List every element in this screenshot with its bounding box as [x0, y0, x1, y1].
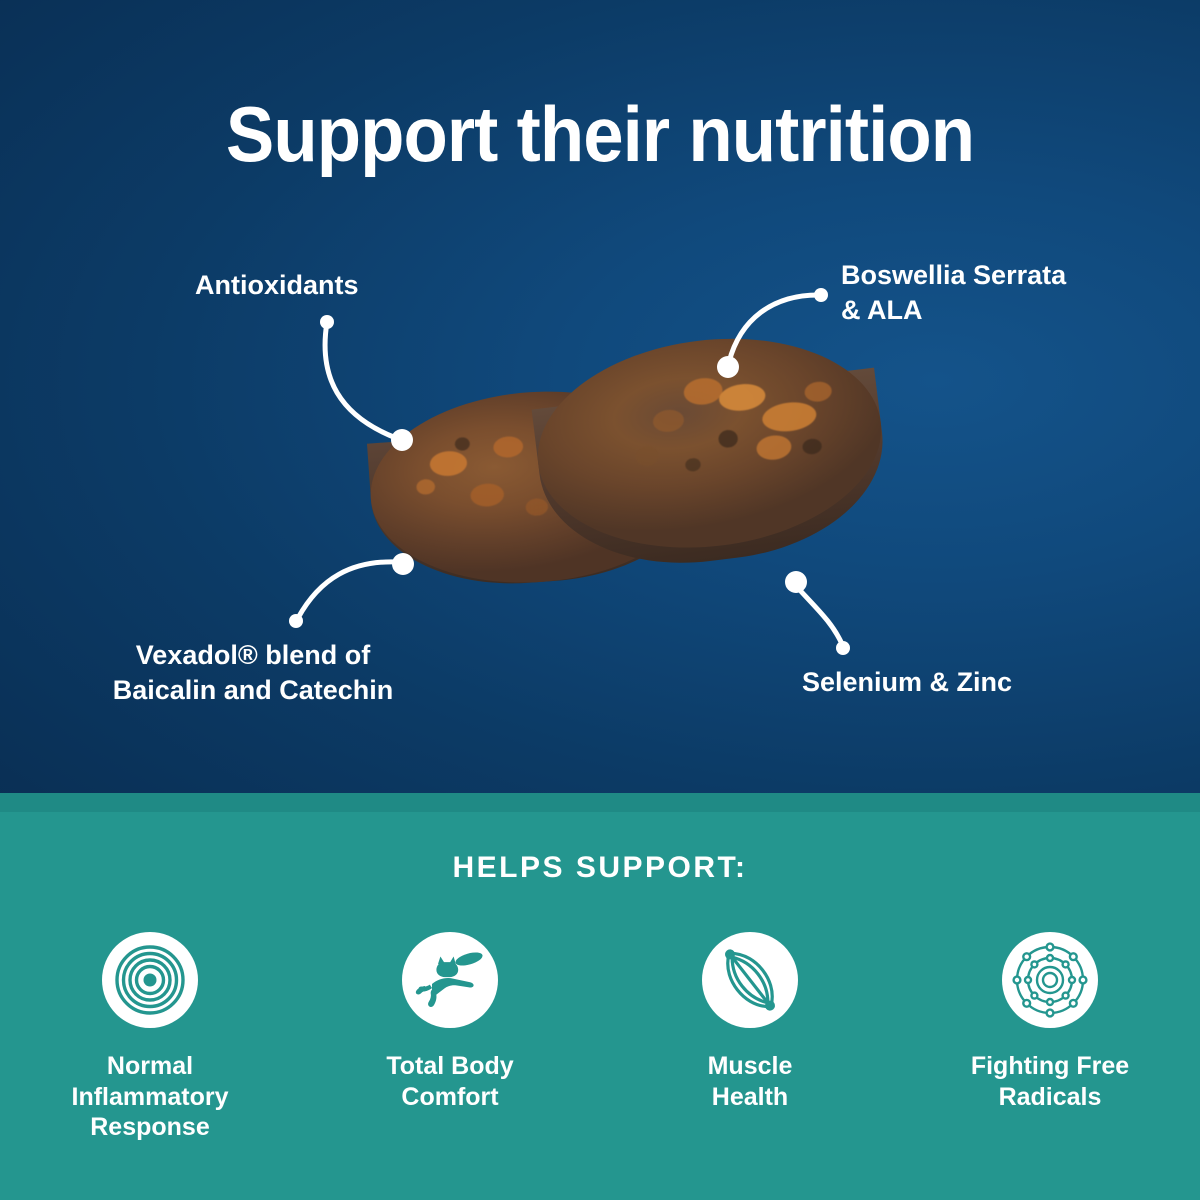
concentric-rings-icon: [102, 932, 198, 1028]
benefit-label: Fighting Free Radicals: [971, 1051, 1129, 1112]
label-dot-boswellia: [814, 288, 828, 302]
label-dot-selenium: [836, 641, 850, 655]
muscle-fiber-icon: [702, 932, 798, 1028]
benefit-label: Muscle Health: [708, 1051, 793, 1112]
benefit-label: Total Body Comfort: [386, 1051, 513, 1112]
leader-line-vexadol: [298, 562, 398, 618]
leader-line-boswellia: [729, 295, 821, 362]
label-dot-antioxidants: [320, 315, 334, 329]
benefit-item-normal-inflammatory-response: Normal Inflammatory Response: [0, 932, 300, 1143]
callout-label-vexadol: Vexadol® blend of Baicalin and Catechin: [88, 638, 418, 708]
label-dot-vexadol: [289, 614, 303, 628]
anchor-dot-selenium: [785, 571, 807, 593]
callout-label-antioxidants: Antioxidants: [195, 268, 359, 303]
callout-label-selenium: Selenium & Zinc: [802, 665, 1012, 700]
helps-support-title: HELPS SUPPORT:: [0, 851, 1200, 885]
benefit-item-total-body-comfort: Total Body Comfort: [300, 932, 600, 1143]
helps-support-section: HELPS SUPPORT: Normal Inflammato: [0, 793, 1200, 1200]
benefit-item-fighting-free-radicals: Fighting Free Radicals: [900, 932, 1200, 1143]
anchor-dot-antioxidants: [391, 429, 413, 451]
benefit-label: Normal Inflammatory Response: [72, 1051, 229, 1143]
anchor-dot-vexadol: [392, 553, 414, 575]
leaping-dog-frisbee-icon: [402, 932, 498, 1028]
atom-molecule-icon: [1002, 932, 1098, 1028]
hero-section: Support their nutrition: [0, 0, 1200, 793]
section-divider: [0, 793, 1200, 812]
product-infographic: Support their nutrition: [0, 0, 1200, 1200]
leader-line-selenium: [797, 587, 842, 644]
anchor-dot-boswellia: [717, 356, 739, 378]
leader-line-antioxidants: [325, 322, 396, 438]
benefit-item-muscle-health: Muscle Health: [600, 932, 900, 1143]
callout-label-boswellia: Boswellia Serrata & ALA: [841, 258, 1066, 328]
benefits-list: Normal Inflammatory Response: [0, 932, 1200, 1143]
